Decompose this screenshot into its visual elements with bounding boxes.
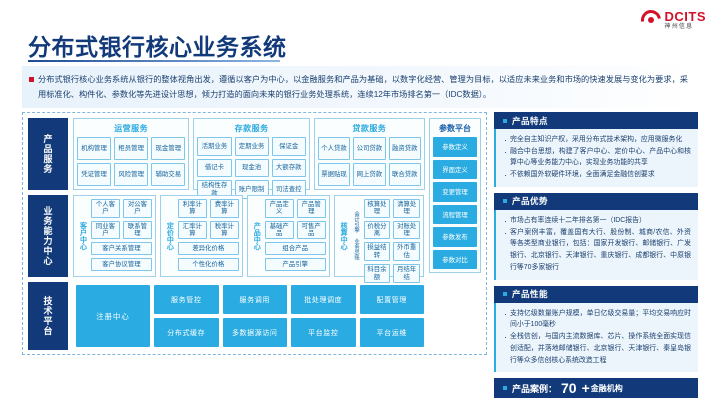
cell-deposit-5[interactable]: 大额存款 <box>272 159 306 178</box>
card-title-product-performance: 产品性能 <box>512 288 548 300</box>
performance-item-1: 全栈信创，与国内主流数据库、芯片、操作系统全面实现信创适配，并落地邮储银行、北京… <box>503 331 691 366</box>
card-product-performance: 产品性能 支持亿级数量账户规模，单日亿级交易量；平均交易响应时间小于100毫秒 … <box>494 286 698 373</box>
card-title-product-advantages: 产品优势 <box>512 195 548 207</box>
cell-loan-5[interactable]: 联合贷款 <box>389 163 421 186</box>
case-label: 产品案例： <box>512 382 557 395</box>
cell-deposit-2[interactable]: 保证金 <box>272 137 306 156</box>
center-side-sublabel-accounting: 会计引擎 业务总账 <box>352 199 361 273</box>
product-case-banner: 产品案例： 70 + 金融机构 <box>494 378 698 398</box>
cell-accounting-2[interactable]: 价税分离 <box>364 221 391 240</box>
square-bullet-icon <box>503 199 507 203</box>
cell-product-3[interactable]: 可售产品 <box>297 221 326 240</box>
param-item-0[interactable]: 参数定义 <box>433 137 477 157</box>
cell-deposit-1[interactable]: 定期业务 <box>235 137 269 156</box>
group-title-deposit: 存款服务 <box>197 123 305 134</box>
page-title: 分布式银行核心业务系统 <box>28 28 287 62</box>
feature-item-0: 完全自主知识产权，采用分布式技术架构，应用微服务化 <box>503 134 691 146</box>
cell-deposit-4[interactable]: 现金池 <box>235 159 269 178</box>
center-side-label-customer: 客户中心 <box>77 199 88 273</box>
performance-item-0: 支持亿级数量账户规模，单日亿级交易量；平均交易响应时间小于100毫秒 <box>503 308 691 331</box>
cell-customer-4[interactable]: 客户关系管理 <box>91 242 152 255</box>
tech-cell-4[interactable]: 分布式缓存 <box>154 318 219 347</box>
cell-pricing-0[interactable]: 利率计算 <box>178 199 207 218</box>
cell-customer-1[interactable]: 对公客户 <box>123 199 152 218</box>
center-customer: 客户中心 个人客户 对公客户 同业客户 联系管理 客户关系管理 <box>73 195 156 277</box>
cell-operation-2[interactable]: 现金管理 <box>151 137 185 160</box>
cell-pricing-4[interactable]: 差异化价格 <box>178 242 239 255</box>
tech-cell-7[interactable]: 平台运维 <box>360 318 425 347</box>
cell-loan-0[interactable]: 个人贷款 <box>318 137 350 160</box>
feature-item-1: 融合中台思想，构建了客户中心、定价中心、产品中心和核算中心等业务能力中心，实现业… <box>503 146 691 169</box>
cell-deposit-3[interactable]: 借记卡 <box>197 159 231 178</box>
cell-product-4[interactable]: 组合产品 <box>265 242 326 255</box>
tech-cell-3[interactable]: 配置管理 <box>360 285 425 314</box>
square-bullet-icon <box>503 292 507 296</box>
param-platform-title: 参数平台 <box>433 123 477 134</box>
center-product: 产品中心 产品定义 产品管理 基础产品 可售产品 组合产品 <box>247 195 330 277</box>
cell-operation-4[interactable]: 风险管理 <box>114 163 148 186</box>
logo-text-en: DCITS <box>665 10 707 23</box>
square-bullet-icon <box>503 119 507 123</box>
cell-accounting-1[interactable]: 清算处理 <box>393 199 420 218</box>
band-capability-center: 业务能力中心 客户中心 个人客户 对公客户 同业客户 联系管理 <box>28 195 481 277</box>
cell-operation-3[interactable]: 凭证管理 <box>77 163 111 186</box>
cell-customer-3[interactable]: 联系管理 <box>123 221 152 240</box>
cell-loan-3[interactable]: 票据贴现 <box>318 163 350 186</box>
band-label-capability-center: 业务能力中心 <box>28 195 68 277</box>
band-label-product-service: 产品服务 <box>28 118 68 190</box>
cell-customer-0[interactable]: 个人客户 <box>91 199 120 218</box>
card-title-product-features: 产品特点 <box>512 115 548 127</box>
cell-accounting-5[interactable]: 外币重估 <box>393 242 420 261</box>
band-label-tech-platform: 技术平台 <box>28 282 68 350</box>
cell-product-5[interactable]: 产品引擎 <box>265 258 326 271</box>
tech-register-center[interactable]: 注册中心 <box>76 285 150 347</box>
cell-accounting-0[interactable]: 核算处理 <box>364 199 391 218</box>
cell-accounting-3[interactable]: 对账处理 <box>393 221 420 240</box>
param-item-1[interactable]: 界面定义 <box>433 160 477 180</box>
tech-cell-5[interactable]: 多数据源访问 <box>223 318 288 347</box>
cell-loan-4[interactable]: 网上贷款 <box>353 163 385 186</box>
tech-cell-1[interactable]: 服务调用 <box>223 285 288 314</box>
case-number: 70 <box>561 380 577 396</box>
cell-pricing-2[interactable]: 汇率计算 <box>178 221 207 240</box>
case-tail: 金融机构 <box>591 383 623 394</box>
group-title-loan: 贷款服务 <box>318 123 421 134</box>
slide-root: DCITS 神州信息 分布式银行核心业务系统 分布式银行核心业务系统从银行的整体… <box>0 0 720 405</box>
cell-loan-1[interactable]: 公司贷款 <box>353 137 385 160</box>
cell-accounting-4[interactable]: 损益结转 <box>364 242 391 261</box>
group-operation-service: 运营服务 机构管理 柜员管理 现金管理 凭证管理 风险管理 辅助交易 <box>73 118 189 190</box>
tech-cell-2[interactable]: 批处理调度 <box>291 285 356 314</box>
band-product-service: 产品服务 运营服务 机构管理 柜员管理 现金管理 凭证管理 风险管理 辅助交易 … <box>28 118 481 190</box>
group-title-operation: 运营服务 <box>77 123 185 134</box>
advantage-item-1: 客户案例丰富，覆盖国有大行、股份制、城商/农信、外资等各类型商业银行，包括：国家… <box>503 227 691 274</box>
feature-item-2: 不依赖国外软硬件环境，全面满足金融信创要求 <box>503 169 691 181</box>
cell-loan-2[interactable]: 融资贷款 <box>389 137 421 160</box>
cell-accounting-6[interactable]: 科目余额 <box>364 264 391 283</box>
architecture-diagram: 产品服务 运营服务 机构管理 柜员管理 现金管理 凭证管理 风险管理 辅助交易 … <box>22 112 487 355</box>
card-product-advantages: 产品优势 市场占有率连续十二年排名第一（IDC报告） 客户案例丰富，覆盖国有大行… <box>494 193 698 280</box>
brand-logo: DCITS 神州信息 <box>641 10 707 30</box>
cell-deposit-0[interactable]: 活期业务 <box>197 137 231 156</box>
advantage-item-0: 市场占有率连续十二年排名第一（IDC报告） <box>503 215 691 227</box>
center-accounting: 核算中心 会计引擎 业务总账 核算处理 清算处理 价税分离 对账处理 损益结转 <box>334 195 424 277</box>
tech-cell-0[interactable]: 服务管控 <box>154 285 219 314</box>
intro-text: 分布式银行核心业务系统从银行的整体视角出发，遵循以客户为中心，以金融服务和产品为… <box>38 72 688 102</box>
card-body-product-advantages: 市场占有率连续十二年排名第一（IDC报告） 客户案例丰富，覆盖国有大行、股份制、… <box>494 210 698 280</box>
logo-arc-icon <box>641 10 661 30</box>
square-bullet-icon <box>503 386 507 390</box>
title-underline <box>28 60 280 62</box>
center-side-label-product: 产品中心 <box>251 199 262 273</box>
center-side-label-accounting: 核算中心 <box>338 199 349 273</box>
band-tech-platform: 技术平台 注册中心 服务管控 服务调用 批处理调度 配置管理 分布式缓存 多数据… <box>28 282 481 350</box>
card-body-product-features: 完全自主知识产权，采用分布式技术架构，应用微服务化 融合中台思想，构建了客户中心… <box>494 129 698 187</box>
card-head-product-advantages: 产品优势 <box>494 193 698 210</box>
cell-pricing-5[interactable]: 个性化价格 <box>178 258 239 271</box>
logo-text-cn: 神州信息 <box>665 24 707 30</box>
group-deposit-service: 存款服务 活期业务 定期业务 保证金 借记卡 现金池 大额存款 结构性存款 账户… <box>193 118 309 190</box>
cell-customer-5[interactable]: 客户协议管理 <box>91 258 152 271</box>
bullet-square-icon <box>29 77 34 82</box>
cell-customer-2[interactable]: 同业客户 <box>91 221 120 240</box>
center-pricing: 定价中心 利率计算 费率计算 汇率计算 税率计算 差异化价格 <box>160 195 243 277</box>
group-loan-service: 贷款服务 个人贷款 公司贷款 融资贷款 票据贴现 网上贷款 联合贷款 <box>314 118 425 190</box>
card-body-product-performance: 支持亿级数量账户规模，单日亿级交易量；平均交易响应时间小于100毫秒 全栈信创，… <box>494 303 698 373</box>
right-panel: 产品特点 完全自主知识产权，采用分布式技术架构，应用微服务化 融合中台思想，构建… <box>494 112 698 398</box>
cell-operation-0[interactable]: 机构管理 <box>77 137 111 160</box>
cell-operation-5[interactable]: 辅助交易 <box>151 163 185 186</box>
card-head-product-performance: 产品性能 <box>494 286 698 303</box>
cell-pricing-3[interactable]: 税率计算 <box>210 221 239 240</box>
cell-product-1[interactable]: 产品管理 <box>297 199 326 218</box>
card-head-product-features: 产品特点 <box>494 112 698 129</box>
center-side-label-pricing: 定价中心 <box>164 199 175 273</box>
cell-pricing-1[interactable]: 费率计算 <box>210 199 239 218</box>
card-product-features: 产品特点 完全自主知识产权，采用分布式技术架构，应用微服务化 融合中台思想，构建… <box>494 112 698 187</box>
tech-cell-6[interactable]: 平台监控 <box>291 318 356 347</box>
cell-accounting-7[interactable]: 月结年结 <box>393 264 420 283</box>
cell-operation-1[interactable]: 柜员管理 <box>114 137 148 160</box>
intro-banner: 分布式银行核心业务系统从银行的整体视角出发，遵循以客户为中心，以金融服务和产品为… <box>22 66 698 108</box>
cell-product-0[interactable]: 产品定义 <box>265 199 294 218</box>
cell-product-2[interactable]: 基础产品 <box>265 221 294 240</box>
case-plus: + <box>582 380 590 396</box>
